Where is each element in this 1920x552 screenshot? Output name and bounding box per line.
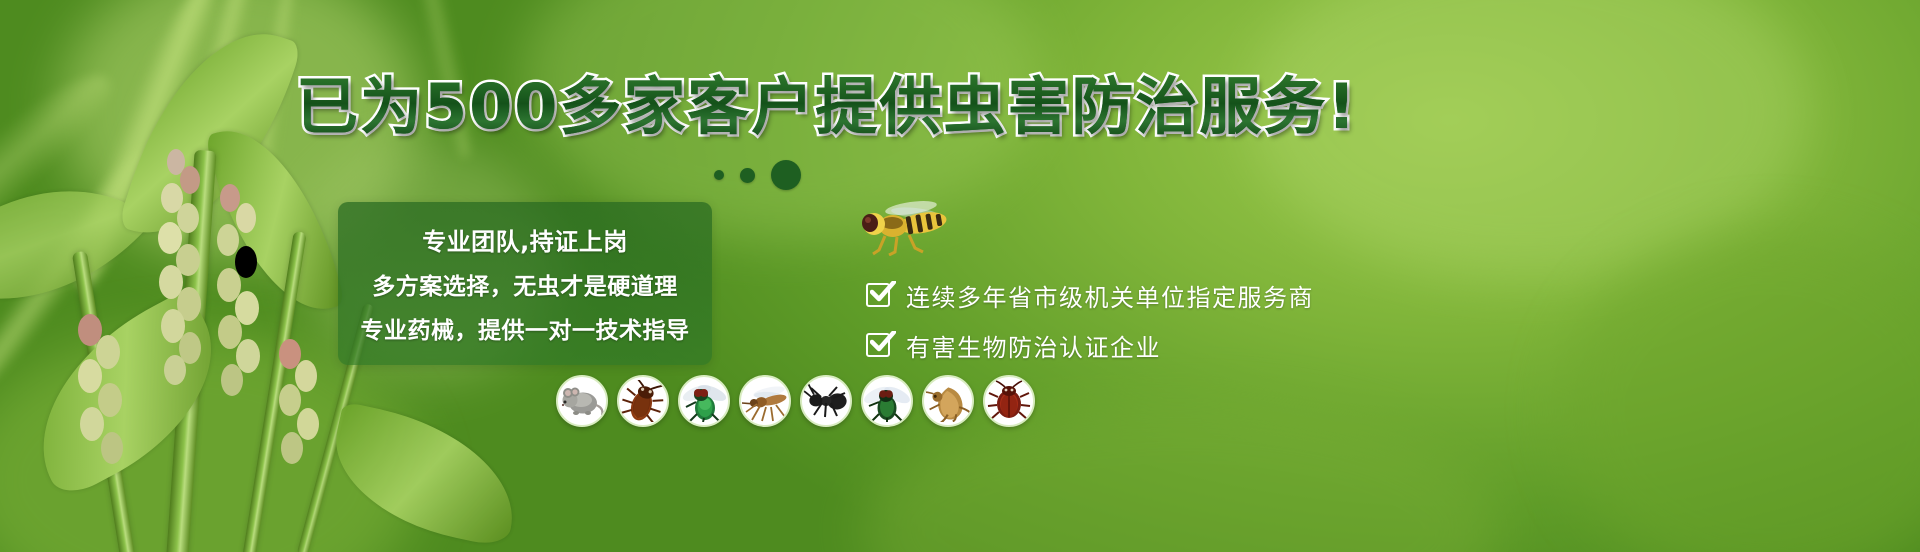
selling-points-text: 专业团队,持证上岗 多方案选择，无虫才是硬道理 专业药械，提供一对一技术指导 [338, 202, 712, 365]
large-dot-icon [771, 160, 801, 190]
selling-point-line-3: 专业药械，提供一对一技术指导 [361, 311, 690, 345]
blowfly-icon [681, 380, 727, 422]
medium-dot-icon [740, 168, 755, 183]
flea-icon [926, 380, 970, 422]
small-dot-icon [714, 170, 724, 180]
pest-icon-mosquito[interactable] [739, 375, 791, 427]
credentials-list: 连续多年省市级机关单位指定服务商 有害生物防治认证企业 [866, 270, 1314, 370]
checkbox-checked-icon [866, 283, 890, 307]
hoverfly-icon [845, 196, 960, 256]
selling-point-line-2: 多方案选择，无虫才是硬道理 [372, 267, 678, 301]
pest-icon-housefly[interactable] [861, 375, 913, 427]
pest-control-hero-banner: 已为500多家客户提供虫害防治服务! 已为500多家客户提供虫害防治服务! 专业… [0, 0, 1920, 552]
pest-icon-blowfly[interactable] [678, 375, 730, 427]
list-item: 连续多年省市级机关单位指定服务商 [866, 270, 1314, 320]
mosquito-icon [742, 380, 788, 422]
page-title: 已为500多家客户提供虫害防治服务! [0, 72, 1920, 142]
checkbox-checked-icon [866, 333, 890, 357]
bedbug-icon [987, 380, 1031, 422]
pest-icon-ant[interactable] [800, 375, 852, 427]
credential-text: 有害生物防治认证企业 [906, 328, 1161, 363]
selling-point-line-1: 专业团队,持证上岗 [422, 222, 628, 257]
credential-text: 连续多年省市级机关单位指定服务商 [906, 278, 1314, 313]
bud-cluster [60, 300, 220, 550]
cockroach-icon [621, 380, 665, 422]
ant-icon [803, 381, 849, 421]
housefly-icon [864, 380, 910, 422]
list-item: 有害生物防治认证企业 [866, 320, 1314, 370]
pest-icon-flea[interactable] [922, 375, 974, 427]
mouse-icon [560, 381, 604, 421]
pest-icon-mouse[interactable] [556, 375, 608, 427]
pest-types-row [556, 375, 1035, 427]
decorative-dots [714, 160, 801, 190]
pest-icon-cockroach[interactable] [617, 375, 669, 427]
pest-icon-bedbug[interactable] [983, 375, 1035, 427]
